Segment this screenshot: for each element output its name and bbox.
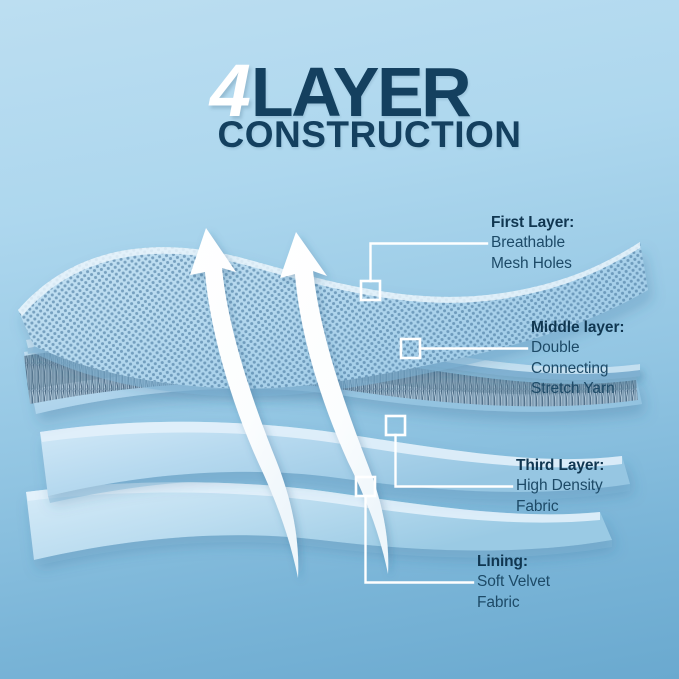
callout-middle-layer-title: Middle layer:: [531, 318, 624, 338]
callout-middle-layer: Middle layer: Double Connecting Stretch …: [531, 318, 624, 400]
infographic-title: 4LAYER CONSTRUCTION: [0, 60, 679, 156]
callout-third-layer: Third Layer: High Density Fabric: [516, 456, 604, 517]
callout-third-layer-description: High Density Fabric: [516, 476, 604, 517]
callout-lining: Lining: Soft Velvet Fabric: [477, 552, 550, 613]
callout-first-layer-title: First Layer:: [491, 213, 574, 233]
callout-first-layer: First Layer: Breathable Mesh Holes: [491, 213, 574, 274]
callout-lining-title: Lining:: [477, 552, 550, 572]
title-subtitle: CONSTRUCTION: [0, 114, 679, 156]
callout-third-layer-title: Third Layer:: [516, 456, 604, 476]
callout-lining-description: Soft Velvet Fabric: [477, 572, 550, 613]
callout-first-layer-description: Breathable Mesh Holes: [491, 233, 574, 274]
callout-middle-layer-description: Double Connecting Stretch Yarn: [531, 338, 624, 399]
infographic-canvas: 4LAYER CONSTRUCTION First Layer: Breatha…: [0, 0, 679, 679]
title-line-primary: 4LAYER: [0, 60, 679, 122]
